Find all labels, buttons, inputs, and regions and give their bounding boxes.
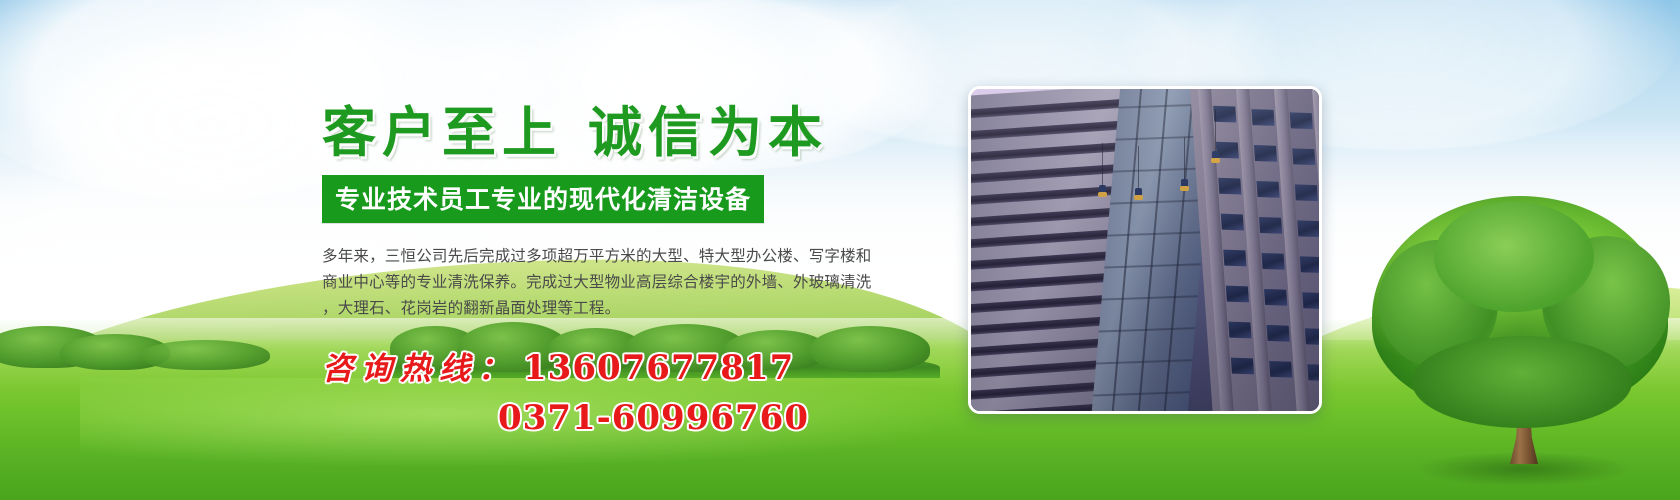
hotline-landline-number[interactable]: 0371-60996760 (322, 398, 902, 438)
sky-label: 蓝天白云 (0, 0, 1, 1)
grass-label: 草地 (0, 0, 1, 1)
photo-overlay (971, 89, 1319, 411)
description-line: ，大理石、花岗岩的翻新晶面处理等工程。 (322, 295, 878, 321)
building-photo-card: 高层建筑外墙清洗作业 — 蜘蛛人高空作业 (968, 86, 1322, 414)
promo-banner: 蓝天白云 草地 绿树 客户至上诚信为本 专业技术员工专业 (0, 0, 1680, 500)
building-photo (971, 89, 1319, 411)
shrub-cluster-left (0, 300, 320, 370)
hotline-label: 咨询热线： (322, 351, 517, 386)
bush-shape (140, 340, 270, 370)
canopy-lobe (1412, 336, 1632, 428)
page-title: 客户至上诚信为本 (322, 104, 902, 162)
tree-label: 绿树 (1372, 196, 1373, 197)
description-line: 多年来，三恒公司先后完成过多项超万平方米的大型、特大型办公楼、写字楼和 (322, 243, 878, 269)
banner-copy: 客户至上诚信为本 专业技术员工专业的现代化清洁设备 多年来，三恒公司先后完成过多… (322, 104, 902, 438)
description-text: 多年来，三恒公司先后完成过多项超万平方米的大型、特大型办公楼、写字楼和 商业中心… (322, 243, 878, 321)
hotline-mobile-number[interactable]: 13607677817 (523, 348, 794, 388)
headline-phrase-1: 客户至上 (322, 103, 562, 163)
description-line: 商业中心等的专业清洗保养。完成过大型物业高层综合楼宇的外墙、外玻璃清洗 (322, 269, 878, 295)
tree-illustration: 绿树 (1372, 196, 1668, 500)
subtitle-badge: 专业技术员工专业的现代化清洁设备 (322, 175, 764, 223)
canopy-lobe (1434, 202, 1594, 312)
hotline-primary: 咨询热线：13607677817 (322, 343, 902, 388)
headline-phrase-2: 诚信为本 (588, 103, 828, 163)
